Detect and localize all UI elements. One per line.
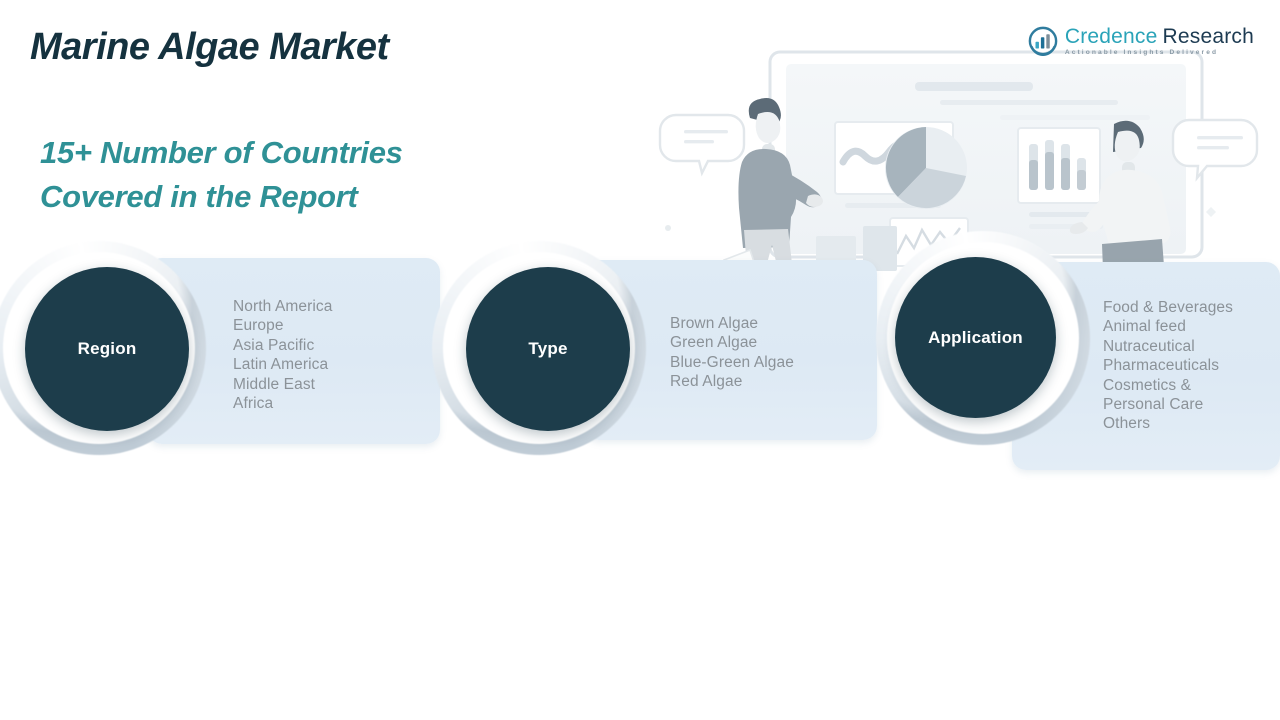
list-item: Asia Pacific: [233, 336, 333, 355]
list-item: Nutraceutical: [1103, 337, 1233, 356]
list-item: Personal Care: [1103, 395, 1233, 414]
segment-bubble-type[interactable]: Type: [466, 267, 630, 431]
segment-list-application: Food & Beverages Animal feed Nutraceutic…: [1103, 298, 1233, 434]
page-title: Marine Algae Market: [30, 26, 389, 69]
segment-label-type: Type: [528, 339, 567, 359]
logo-tagline: Actionable Insights Delivered: [1065, 50, 1254, 57]
list-item: Cosmetics &: [1103, 376, 1233, 395]
logo-text: CredenceResearch Actionable Insights Del…: [1065, 26, 1254, 57]
list-item: Middle East: [233, 375, 333, 394]
list-item: Pharmaceuticals: [1103, 356, 1233, 375]
list-item: Others: [1103, 414, 1233, 433]
list-item: Red Algae: [670, 372, 794, 391]
segment-label-region: Region: [78, 339, 137, 359]
subtitle-line-2: Covered in the Report: [40, 175, 403, 219]
list-item: Brown Algae: [670, 314, 794, 333]
infographic-slide: CredenceResearch Actionable Insights Del…: [0, 0, 1280, 720]
segment-bubble-application[interactable]: Application: [895, 257, 1056, 418]
bar-chart-circle-icon: [1028, 26, 1058, 56]
segment-label-application: Application: [928, 328, 1023, 348]
logo-name-secondary: Research: [1163, 25, 1254, 48]
brand-logo[interactable]: CredenceResearch Actionable Insights Del…: [1028, 26, 1254, 57]
list-item: Blue-Green Algae: [670, 353, 794, 372]
segment-bubble-region[interactable]: Region: [25, 267, 189, 431]
segment-list-type: Brown Algae Green Algae Blue-Green Algae…: [670, 314, 794, 392]
list-item: Africa: [233, 394, 333, 413]
page-subtitle: 15+ Number of Countries Covered in the R…: [40, 131, 403, 219]
list-item: Europe: [233, 316, 333, 335]
list-item: Food & Beverages: [1103, 298, 1233, 317]
list-item: Animal feed: [1103, 317, 1233, 336]
list-item: Green Algae: [670, 333, 794, 352]
list-item: North America: [233, 297, 333, 316]
list-item: Latin America: [233, 355, 333, 374]
segment-list-region: North America Europe Asia Pacific Latin …: [233, 297, 333, 413]
subtitle-line-1: 15+ Number of Countries: [40, 131, 403, 175]
logo-name-primary: Credence: [1065, 25, 1158, 48]
